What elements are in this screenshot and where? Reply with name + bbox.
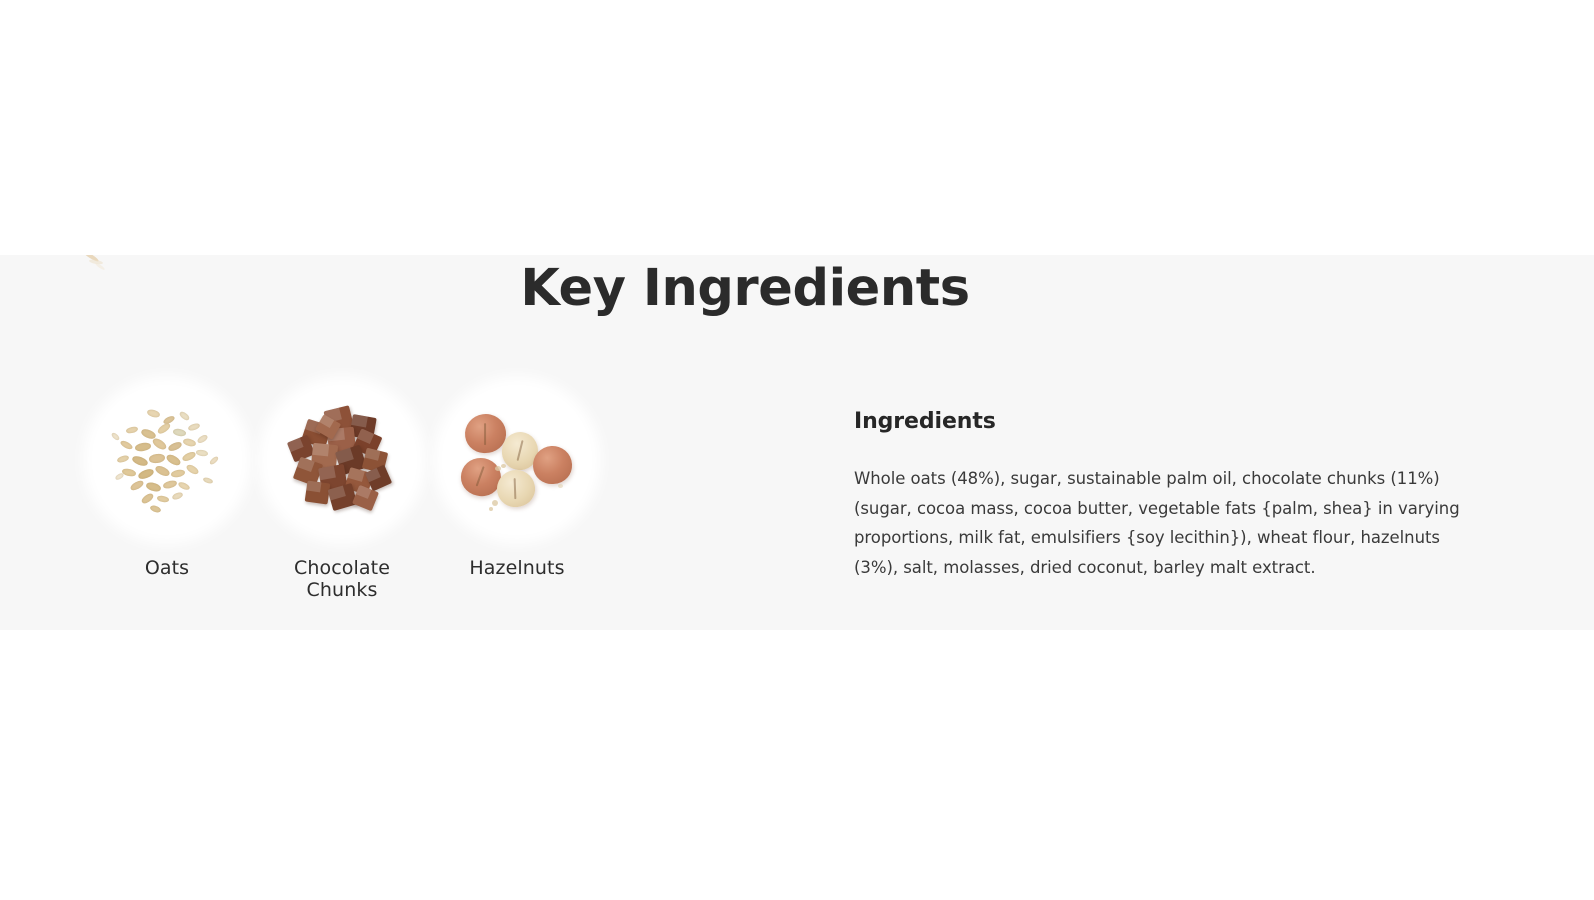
ingredients-body-text: Whole oats (48%), sugar, sustainable pal… [854,464,1466,582]
hazelnuts-photo-icon [443,386,591,534]
ingredient-tile-list: Oats [93,386,591,601]
ingredient-tile-chocolate-chunks[interactable]: Chocolate Chunks [268,386,416,601]
ingredient-tile-hazelnuts[interactable]: Hazelnuts [443,386,591,579]
ingredients-copy-block: Ingredients Whole oats (48%), sugar, sus… [854,407,1466,582]
ingredient-tile-label: Hazelnuts [443,557,591,579]
ingredient-tile-label: Chocolate Chunks [268,557,416,601]
chocolate-chunks-swatch [268,386,416,534]
hazelnuts-swatch [443,386,591,534]
oats-photo-icon [93,386,241,534]
chocolate-chunks-photo-icon [268,386,416,534]
ingredient-tile-label-line1: Chocolate [294,557,390,579]
ingredient-tile-label-line2: Chunks [307,579,378,601]
ingredient-tile-oats[interactable]: Oats [93,386,241,579]
ingredient-tile-label: Oats [93,557,241,579]
page-title: Key Ingredients [0,258,1490,319]
oats-swatch [93,386,241,534]
ingredients-heading: Ingredients [854,407,1466,437]
